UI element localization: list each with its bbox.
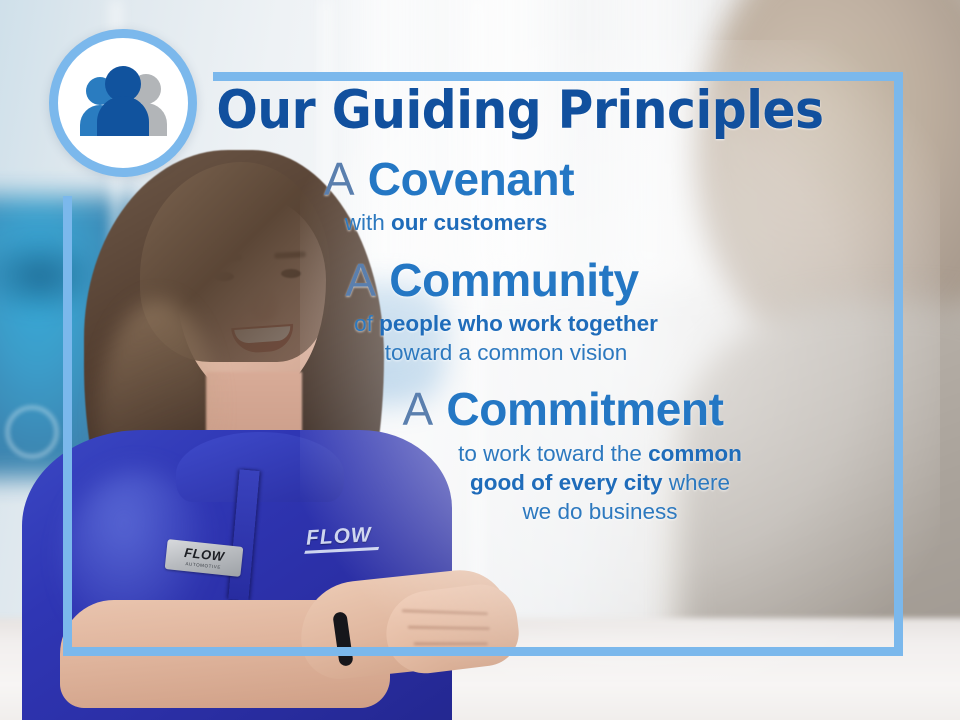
finger-line — [402, 609, 488, 615]
subtext-line: with our customers — [150, 208, 742, 237]
principle-article: A — [324, 153, 355, 205]
principle-article: A — [402, 383, 433, 435]
subtext-line: of people who work together — [178, 309, 834, 338]
subtext-part-bold: our customers — [391, 210, 547, 235]
principle-commitment: A Commitment to work toward the common g… — [150, 385, 890, 526]
principle-community: A Community of people who work together … — [150, 256, 890, 368]
principle-heading: A Community — [150, 256, 834, 304]
subtext-part: where — [663, 470, 731, 495]
finger-line — [414, 642, 488, 645]
principle-keyword: Covenant — [368, 153, 574, 205]
subtext-part: to work toward the — [458, 441, 648, 466]
subtext-line: to work toward the common — [310, 439, 890, 468]
poster-canvas: FLOW AUTOMOTIVE FLOW — [0, 0, 960, 720]
name-tag-brand: FLOW — [184, 546, 225, 563]
subtext-part: with — [345, 210, 391, 235]
principle-article: A — [345, 254, 376, 306]
subtext-line: good of every city where — [310, 468, 890, 497]
subtext-part: of — [354, 311, 379, 336]
page-title: Our Guiding Principles — [180, 84, 861, 137]
principle-heading: A Commitment — [236, 385, 890, 433]
principle-covenant: A Covenant with our customers — [150, 155, 890, 238]
principle-subtext: to work toward the common good of every … — [236, 439, 890, 527]
copy-block: Our Guiding Principles A Covenant with o… — [150, 84, 890, 526]
subtext-part-bold: good of every city — [470, 470, 663, 495]
principle-keyword: Community — [389, 254, 638, 306]
principle-subtext: of people who work together toward a com… — [150, 309, 834, 368]
finger-line — [408, 626, 490, 630]
subtext-line: toward a common vision — [178, 338, 834, 367]
polo-chest-logo: FLOW — [305, 523, 372, 550]
subtext-part-bold: people who work together — [379, 311, 658, 336]
principle-heading: A Covenant — [150, 155, 748, 203]
subtext-line: we do business — [310, 497, 890, 526]
subtext-part-bold: common — [648, 441, 742, 466]
principle-keyword: Commitment — [446, 383, 723, 435]
principle-subtext: with our customers — [150, 208, 748, 237]
